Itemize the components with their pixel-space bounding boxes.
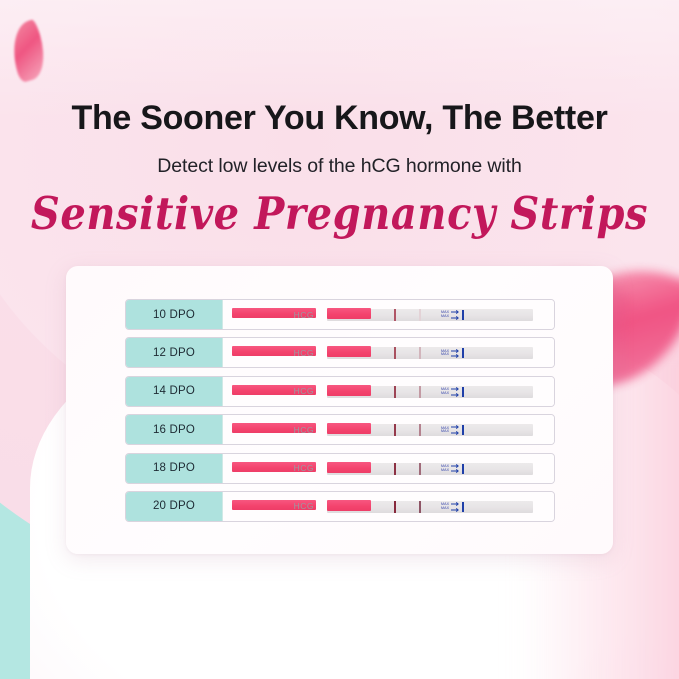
max-text: MAXMAX	[441, 427, 449, 434]
arrow-right-icon	[451, 508, 460, 512]
dpo-label: 16 DPO	[126, 415, 223, 444]
poster-canvas: The Sooner You Know, The Better Detect l…	[0, 0, 679, 679]
arrow-icon-group	[450, 349, 460, 359]
max-blue-bar	[462, 464, 465, 474]
max-label-bottom: MAX	[441, 353, 449, 357]
control-pad	[327, 385, 371, 396]
arrow-icon-group	[450, 310, 460, 320]
control-line	[394, 501, 396, 513]
arrow-right-icon	[451, 354, 460, 358]
max-marker: MAXMAX	[441, 463, 475, 475]
strip-row: 12 DPOHCGMAXMAX	[125, 337, 555, 368]
arrow-icon-group	[450, 387, 460, 397]
dpo-label: 10 DPO	[126, 300, 223, 329]
max-marker: MAXMAX	[441, 309, 475, 321]
test-line	[419, 347, 421, 359]
test-strip: HCGMAXMAX	[223, 492, 554, 521]
strip-row: 14 DPOHCGMAXMAX	[125, 376, 555, 407]
arrow-right-icon	[451, 502, 460, 506]
max-marker: MAXMAX	[441, 347, 475, 359]
hcg-label: HCG	[314, 347, 319, 358]
arrow-right-icon	[451, 393, 460, 397]
strip-row: 10 DPOHCGMAXMAX	[125, 299, 555, 330]
arrow-icon-group	[450, 502, 460, 512]
control-line	[394, 309, 396, 321]
control-line	[394, 463, 396, 475]
arrow-right-icon	[451, 310, 460, 314]
max-label-bottom: MAX	[441, 469, 449, 473]
script-title: Sensitive Pregnancy Strips	[0, 184, 679, 244]
strips-list: 10 DPOHCGMAXMAX12 DPOHCGMAXMAX14 DPOHCGM…	[125, 299, 555, 529]
hcg-label: HCG	[314, 309, 319, 320]
max-label-bottom: MAX	[441, 430, 449, 434]
max-blue-bar	[462, 348, 465, 358]
max-label-bottom: MAX	[441, 392, 449, 396]
control-pad	[327, 423, 371, 434]
hcg-label: HCG	[314, 463, 319, 474]
page-subtitle: Detect low levels of the hCG hormone wit…	[0, 155, 679, 178]
test-strip: HCGMAXMAX	[223, 338, 554, 367]
max-blue-bar	[462, 310, 465, 320]
strip-row: 16 DPOHCGMAXMAX	[125, 414, 555, 445]
control-pad	[327, 346, 371, 357]
arrow-right-icon	[451, 425, 460, 429]
arrow-right-icon	[451, 349, 460, 353]
strip-row: 20 DPOHCGMAXMAX	[125, 491, 555, 522]
max-text: MAXMAX	[441, 350, 449, 357]
arrow-right-icon	[451, 464, 460, 468]
test-line	[419, 463, 421, 475]
control-pad	[327, 308, 371, 319]
control-line	[394, 424, 396, 436]
arrow-icon-group	[450, 464, 460, 474]
max-marker: MAXMAX	[441, 424, 475, 436]
test-line	[419, 501, 421, 513]
hcg-label: HCG	[314, 501, 319, 512]
max-label-bottom: MAX	[441, 315, 449, 319]
strip-row: 18 DPOHCGMAXMAX	[125, 453, 555, 484]
page-title: The Sooner You Know, The Better	[0, 100, 679, 137]
test-line	[419, 386, 421, 398]
hcg-label: HCG	[314, 386, 319, 397]
arrow-right-icon	[451, 387, 460, 391]
arrow-right-icon	[451, 431, 460, 435]
control-line	[394, 386, 396, 398]
max-marker: MAXMAX	[441, 501, 475, 513]
control-pad	[327, 462, 371, 473]
arrow-right-icon	[451, 316, 460, 320]
max-label-bottom: MAX	[441, 507, 449, 511]
hcg-label: HCG	[314, 424, 319, 435]
max-text: MAXMAX	[441, 465, 449, 472]
test-strip: HCGMAXMAX	[223, 415, 554, 444]
test-strip: HCGMAXMAX	[223, 454, 554, 483]
max-text: MAXMAX	[441, 388, 449, 395]
headings-block: The Sooner You Know, The Better Detect l…	[0, 0, 679, 238]
test-strip: HCGMAXMAX	[223, 377, 554, 406]
dpo-label: 18 DPO	[126, 454, 223, 483]
dpo-label: 20 DPO	[126, 492, 223, 521]
test-line	[419, 424, 421, 436]
arrow-icon-group	[450, 425, 460, 435]
strips-card: 10 DPOHCGMAXMAX12 DPOHCGMAXMAX14 DPOHCGM…	[66, 266, 613, 554]
max-blue-bar	[462, 502, 465, 512]
dpo-label: 12 DPO	[126, 338, 223, 367]
control-line	[394, 347, 396, 359]
test-strip: HCGMAXMAX	[223, 300, 554, 329]
control-pad	[327, 500, 371, 511]
max-blue-bar	[462, 387, 465, 397]
max-text: MAXMAX	[441, 503, 449, 510]
dpo-label: 14 DPO	[126, 377, 223, 406]
max-marker: MAXMAX	[441, 386, 475, 398]
max-blue-bar	[462, 425, 465, 435]
test-line	[419, 309, 421, 321]
max-text: MAXMAX	[441, 311, 449, 318]
arrow-right-icon	[451, 469, 460, 473]
